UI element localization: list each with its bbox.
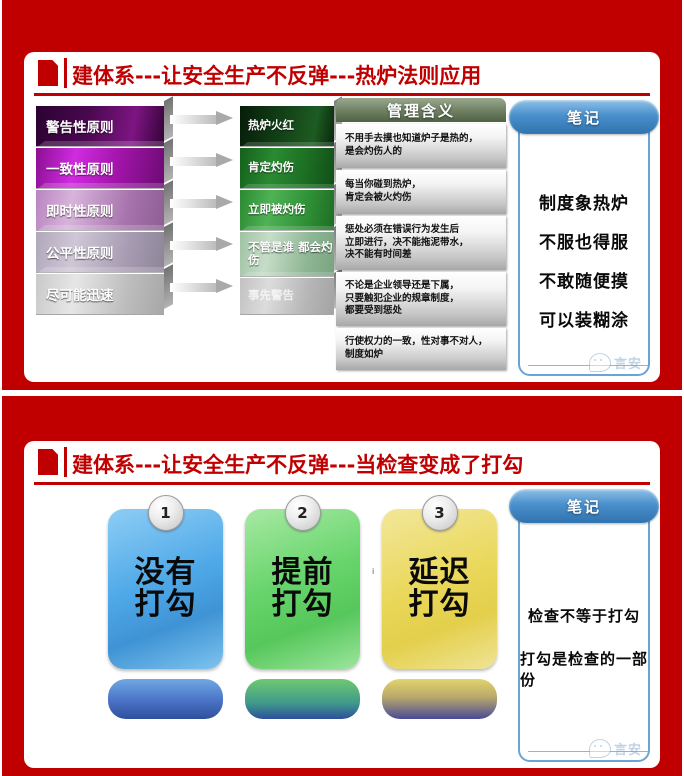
tile-body: 延迟 i 打勾: [382, 509, 497, 669]
note-line: 检查不等于打勾: [528, 605, 640, 626]
notes-panel: 笔记 检查不等于打勾 打勾是检查的一部份 言安: [518, 499, 650, 762]
slide-1-title-bar: 建体系---让安全生产不反弹---热炉法则应用: [24, 52, 660, 92]
slide-1-body: 警告性原则 一致性原则 即时性原则 公平性原则 尽可能迅速 热炉火红: [24, 98, 660, 382]
principle-box: 尽可能迅速: [36, 274, 164, 314]
table-row: 不用手去摸也知道炉子是热的， 是会灼伤人的: [336, 124, 506, 168]
table-cell: 惩处必须在错误行为发生后 立即进行，决不能拖泥带水， 决不能有时间差: [345, 224, 469, 262]
principle-label: 一致性原则: [36, 158, 114, 178]
tile-number: 1: [160, 504, 170, 522]
table-cell: 不论是企业领导还是下属， 只要触犯企业的规章制度， 都要受到惩处: [345, 280, 459, 318]
wechat-icon: [589, 739, 611, 758]
tile-marker: i: [372, 567, 374, 576]
title-divider: [64, 58, 67, 88]
slide-2-body: 1 没有 打勾 2 提前 打勾: [24, 487, 660, 768]
stove-stack: 热炉火红 肯定灼伤 立即被灼伤 不管是谁 都会灼伤 事先警告: [240, 106, 334, 316]
tile-line-2: 打勾: [272, 589, 334, 621]
principle-box: 即时性原则: [36, 190, 164, 230]
stove-box: 不管是谁 都会灼伤: [240, 232, 334, 276]
meaning-table-header-label: 管理含义: [387, 100, 455, 121]
stove-label: 热炉火红: [240, 119, 294, 132]
flag-icon: [38, 449, 58, 475]
note-line: 不敢随便摸: [539, 267, 629, 292]
tile-reflection: [382, 679, 497, 719]
tile-number-badge: 3: [422, 495, 458, 531]
tile-2: 2 提前 打勾: [245, 509, 360, 724]
arrow-right-icon: [170, 112, 238, 126]
arrow-right-icon: [170, 154, 238, 168]
tile-1: 1 没有 打勾: [108, 509, 223, 724]
title-underline: [34, 93, 650, 96]
slide-2: 建体系---让安全生产不反弹---当检查变成了打勾 1 没有 打勾: [2, 396, 682, 776]
notes-title: 笔记: [567, 107, 601, 128]
tile-3: 3 延迟 i 打勾: [382, 509, 497, 724]
tile-number: 3: [434, 504, 444, 522]
slide-2-card: 建体系---让安全生产不反弹---当检查变成了打勾 1 没有 打勾: [24, 441, 660, 768]
tile-reflection: [108, 679, 223, 719]
tile-reflection: [245, 679, 360, 719]
meaning-table-header: 管理含义: [336, 98, 506, 122]
slide-2-title: 建体系---让安全生产不反弹---当检查变成了打勾: [72, 449, 523, 479]
tiles-row: 1 没有 打勾 2 提前 打勾: [108, 509, 498, 724]
principle-box: 一致性原则: [36, 148, 164, 188]
note-line: 打勾是检查的一部份: [520, 648, 648, 690]
notes-title-pill: 笔记: [509, 489, 659, 523]
notes-body: 制度象热炉 不服也得服 不敢随便摸 可以装糊涂: [520, 146, 648, 374]
stove-box: 肯定灼伤: [240, 148, 334, 188]
tile-number-badge: 1: [148, 495, 184, 531]
tile-body: 没有 打勾: [108, 509, 223, 669]
watermark-text: 言安: [614, 739, 642, 758]
watermark-text: 言安: [614, 353, 642, 372]
slide-1-title: 建体系---让安全生产不反弹---热炉法则应用: [72, 60, 481, 90]
title-divider: [64, 447, 67, 477]
principle-label: 尽可能迅速: [36, 284, 114, 304]
watermark: 言安: [589, 353, 642, 372]
principle-box: 警告性原则: [36, 106, 164, 146]
arrow-right-icon: [170, 238, 238, 252]
note-line: 可以装糊涂: [539, 306, 629, 331]
slide-1: 建体系---让安全生产不反弹---热炉法则应用 警告性原则 一致性原则 即时性原…: [2, 0, 682, 390]
arrow-column: [170, 112, 238, 322]
flag-icon: [38, 60, 58, 86]
stove-label: 肯定灼伤: [240, 161, 294, 174]
tile-number-badge: 2: [285, 495, 321, 531]
presentation-page: 建体系---让安全生产不反弹---热炉法则应用 警告性原则 一致性原则 即时性原…: [0, 0, 684, 776]
principles-stack: 警告性原则 一致性原则 即时性原则 公平性原则 尽可能迅速: [36, 106, 164, 316]
principle-box: 公平性原则: [36, 232, 164, 272]
tile-number: 2: [297, 504, 307, 522]
arrow-right-icon: [170, 280, 238, 294]
stove-label: 事先警告: [240, 289, 294, 302]
principle-label: 警告性原则: [36, 116, 114, 136]
stove-label: 不管是谁 都会灼伤: [240, 241, 334, 267]
stove-box: 热炉火红: [240, 106, 334, 146]
table-row: 不论是企业领导还是下属， 只要触犯企业的规章制度， 都要受到惩处: [336, 272, 506, 326]
title-underline: [34, 482, 650, 485]
tile-line-1: 没有: [135, 557, 197, 589]
notes-panel: 笔记 制度象热炉 不服也得服 不敢随便摸 可以装糊涂 言安: [518, 110, 650, 376]
table-cell: 不用手去摸也知道炉子是热的， 是会灼伤人的: [345, 133, 478, 159]
watermark: 言安: [589, 739, 642, 758]
notes-title: 笔记: [567, 496, 601, 517]
table-cell: 行使权力的一致，性对事不对人， 制度如炉: [345, 336, 488, 362]
table-row: 行使权力的一致，性对事不对人， 制度如炉: [336, 328, 506, 370]
tile-body: 提前 打勾: [245, 509, 360, 669]
meaning-table: 管理含义 不用手去摸也知道炉子是热的， 是会灼伤人的 每当你碰到热炉， 肯定会被…: [336, 98, 506, 370]
principle-label: 公平性原则: [36, 242, 114, 262]
notes-body: 检查不等于打勾 打勾是检查的一部份: [520, 535, 648, 760]
arrow-right-icon: [170, 196, 238, 210]
principle-label: 即时性原则: [36, 200, 114, 220]
stove-box: 立即被灼伤: [240, 190, 334, 230]
table-row: 惩处必须在错误行为发生后 立即进行，决不能拖泥带水， 决不能有时间差: [336, 216, 506, 270]
table-row: 每当你碰到热炉， 肯定会被火灼伤: [336, 170, 506, 214]
note-line: 不服也得服: [539, 228, 629, 253]
stove-box: 事先警告: [240, 278, 334, 314]
notes-title-pill: 笔记: [509, 100, 659, 134]
note-line: 制度象热炉: [539, 189, 629, 214]
slide-1-card: 建体系---让安全生产不反弹---热炉法则应用 警告性原则 一致性原则 即时性原…: [24, 52, 660, 382]
slide-2-title-bar: 建体系---让安全生产不反弹---当检查变成了打勾: [24, 441, 660, 481]
wechat-icon: [589, 353, 611, 372]
tile-line-1: 延迟: [409, 557, 471, 589]
tile-line-2: 打勾: [135, 589, 197, 621]
tile-line-1: 提前: [272, 557, 334, 589]
stove-label: 立即被灼伤: [240, 203, 306, 216]
table-cell: 每当你碰到热炉， 肯定会被火灼伤: [345, 179, 421, 205]
tile-line-2: 打勾: [409, 589, 471, 621]
